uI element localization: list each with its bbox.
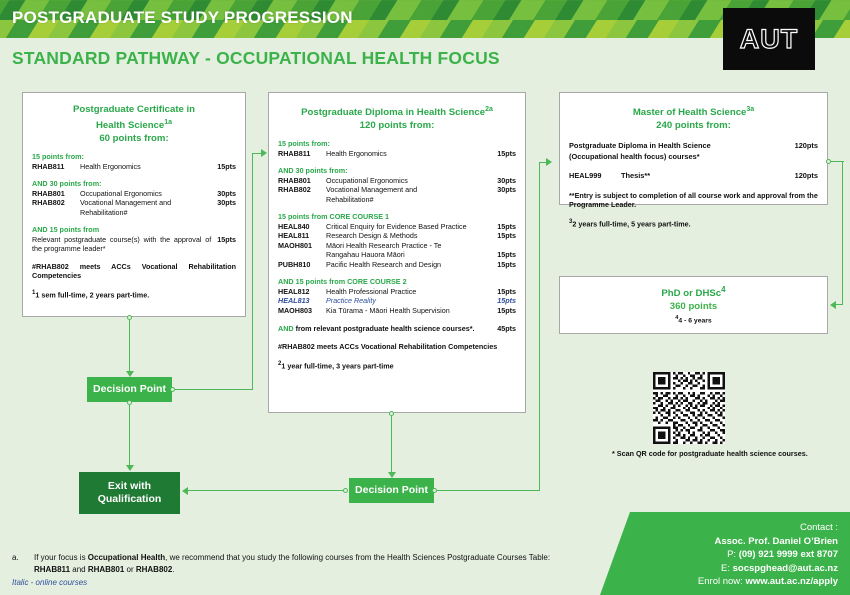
and-relevant-row: AND from relevant postgraduate health sc… (278, 324, 516, 334)
exit-line2: Qualification (98, 493, 162, 505)
footnote-line1-post: , we recommend that you study the follow… (165, 553, 550, 562)
diploma-title-sup: 2a (485, 106, 493, 113)
master-title-sup: 3a (746, 106, 754, 113)
connector-arrow-down (126, 465, 134, 471)
certificate-title-line1: Postgraduate Certificate in (73, 104, 195, 115)
and-relevant-text: AND from relevant postgraduate health sc… (278, 324, 497, 334)
connector-line (539, 162, 540, 491)
course-code (32, 208, 80, 218)
course-name: Occupational Ergonomics (80, 189, 217, 199)
connector-arrow-right (546, 158, 552, 166)
certificate-points: 60 points from: (99, 133, 168, 144)
connector-line (188, 490, 344, 491)
course-name: Health Professional Practice (326, 287, 497, 297)
connector-line (391, 416, 392, 474)
footnote-code2: RHAB801 (88, 565, 124, 574)
and-description: from relevant postgraduate health scienc… (294, 324, 475, 333)
connector-line (842, 161, 843, 305)
duration-text: 1 year full-time, 3 years part-time (281, 361, 393, 370)
certificate-title-line2: Health Science (96, 120, 164, 131)
contact-enrol-url: www.aut.ac.nz/apply (745, 576, 838, 587)
master-row-points: 120pts (795, 171, 818, 182)
decision-point-1[interactable]: Decision Point (87, 377, 172, 402)
footnote-line2: RHAB811 and RHAB801 or RHAB802. (34, 564, 612, 576)
section-heading: 15 points from CORE COURSE 1 (278, 212, 516, 221)
phd-title-text: PhD or DHSc (661, 288, 721, 299)
certificate-title-sup: 1a (164, 119, 172, 126)
course-name: Vocational Management and (326, 185, 497, 195)
contact-email[interactable]: E: socspghead@aut.ac.nz (600, 562, 838, 576)
contact-panel: Contact : Assoc. Prof. Daniel O’Brien P:… (600, 512, 850, 595)
exit-label: Exit withQualification (98, 480, 162, 506)
course-name: Health Ergonomics (326, 149, 497, 159)
footnote-italic-legend: Italic - online courses (12, 578, 87, 587)
card-master-of-health-science: Master of Health Science3a 240 points fr… (559, 92, 828, 205)
course-name: Kia Tūrama - Māori Health Supervision (326, 306, 497, 316)
course-points: 15pts (497, 306, 516, 316)
course-row-continuation: Rangahau Hauora Māori 15pts (278, 250, 516, 260)
qr-code-icon[interactable] (653, 372, 725, 444)
course-row: RHAB801 Occupational Ergonomics 30pts (32, 189, 236, 199)
section-heading: 15 points from: (278, 139, 516, 148)
course-code: RHAB801 (32, 189, 80, 199)
card-phd-or-dhsc: PhD or DHSc4 360 points 44 - 6 years (559, 276, 828, 334)
course-row: HEAL840 Critical Enquiry for Evidence Ba… (278, 222, 516, 232)
course-row: RHAB811 Health Ergonomics 15pts (278, 149, 516, 159)
course-row: MAOH803 Kia Tūrama - Māori Health Superv… (278, 306, 516, 316)
course-row: HEAL812 Health Professional Practice 15p… (278, 287, 516, 297)
exit-line1: Exit with (108, 480, 151, 492)
course-name: Critical Enquiry for Evidence Based Prac… (326, 222, 497, 232)
footnote-code3: RHAB802 (136, 565, 172, 574)
poster-root: POSTGRADUATE STUDY PROGRESSION STANDARD … (0, 0, 850, 595)
master-row-label: Postgraduate Diploma in Health Science (569, 141, 795, 152)
course-name: Health Ergonomics (80, 162, 217, 172)
contact-label: Contact : (600, 521, 838, 535)
contact-email-prefix: E: (721, 563, 733, 574)
connector-arrow-left (182, 487, 188, 495)
contact-email-value: socspghead@aut.ac.nz (733, 563, 838, 574)
course-row: RHAB802 Vocational Management and 30pts (32, 198, 236, 208)
course-name: Practice Reality (326, 296, 497, 306)
footnote-conj1: and (70, 565, 88, 574)
duration-note: 32 years full-time, 5 years part-time. (569, 218, 818, 229)
course-code: RHAB801 (278, 176, 326, 186)
contact-name: Assoc. Prof. Daniel O’Brien (600, 535, 838, 549)
course-row: PUBH810 Pacific Health Research and Desi… (278, 260, 516, 270)
contact-phone-value: (09) 921 9999 ext 8707 (739, 549, 838, 560)
course-points: 15pts (497, 149, 516, 159)
phd-title: PhD or DHSc4 (661, 285, 725, 299)
course-row: RHAB802 Vocational Management and 30pts (278, 185, 516, 195)
course-code: RHAB811 (32, 162, 80, 172)
section-heading: 15 points from: (32, 152, 236, 161)
section-heading: AND 15 points from CORE COURSE 2 (278, 277, 516, 286)
duration-text: 2 years full-time, 5 years part-time. (572, 219, 690, 228)
decision-point-2-label: Decision Point (355, 484, 428, 497)
course-code: HEAL840 (278, 222, 326, 232)
connector-line (129, 320, 130, 373)
course-code: MAOH803 (278, 306, 326, 316)
exit-with-qualification-box[interactable]: Exit withQualification (79, 472, 180, 514)
section-heading: AND 15 points from (32, 225, 236, 234)
course-name: Occupational Ergonomics (326, 176, 497, 186)
decision-point-2[interactable]: Decision Point (349, 478, 434, 503)
footnote-line1-pre: If your focus is (34, 553, 88, 562)
phd-points: 360 points (670, 301, 717, 312)
course-name: Māori Health Research Practice - Te (326, 241, 516, 251)
course-code: HEAL812 (278, 287, 326, 297)
course-code: PUBH810 (278, 260, 326, 270)
course-name: Rehabilitation# (80, 208, 236, 218)
course-code: HEAL813 (278, 296, 326, 306)
connector-line (437, 490, 540, 491)
course-code: RHAB802 (32, 198, 80, 208)
page-title: POSTGRADUATE STUDY PROGRESSION (12, 8, 353, 28)
course-code: RHAB811 (278, 149, 326, 159)
course-points: 30pts (497, 176, 516, 186)
master-row-label: Thesis** (621, 171, 795, 182)
section-heading: AND 30 points from: (278, 166, 516, 175)
course-row: Relevant postgraduate course(s) with the… (32, 235, 236, 254)
course-row: RHAB811 Health Ergonomics 15pts (32, 162, 236, 172)
contact-enrol-prefix: Enrol now: (698, 576, 746, 587)
course-name: Rehabilitation# (326, 195, 516, 205)
master-row: Postgraduate Diploma in Health Science 1… (569, 141, 818, 152)
contact-phone: P: (09) 921 9999 ext 8707 (600, 548, 838, 562)
phd-title-sup: 4 (721, 285, 725, 294)
connector-line (836, 304, 843, 305)
course-name: Pacific Health Research and Design (326, 260, 497, 270)
course-points: 15pts (497, 287, 516, 297)
master-course-code: HEAL999 (569, 171, 621, 182)
course-code: HEAL811 (278, 231, 326, 241)
connector-arrow-left (830, 301, 836, 309)
course-points: 30pts (217, 189, 236, 199)
section-heading: AND 30 points from: (32, 179, 236, 188)
qr-code-svg (653, 372, 725, 444)
duration-note: 11 sem full-time, 2 years part-time. (32, 289, 236, 300)
aut-logo: AUT (723, 8, 815, 70)
master-row-points: 120pts (795, 141, 818, 152)
card-postgraduate-certificate: Postgraduate Certificate in Health Scien… (22, 92, 246, 317)
course-points: 30pts (217, 198, 236, 208)
master-row-continuation: (Occupational health focus) courses* (569, 152, 818, 163)
footnote-code1: RHAB811 (34, 565, 70, 574)
connector-line (539, 162, 546, 163)
phd-years-text: 4 - 6 years (678, 318, 711, 325)
footnote-marker: a. (12, 552, 19, 564)
course-points: 15pts (217, 162, 236, 172)
course-points: 15pts (217, 235, 236, 254)
entry-note: **Entry is subject to completion of all … (569, 191, 818, 210)
card-postgraduate-diploma: Postgraduate Diploma in Health Science2a… (268, 92, 526, 413)
course-row: RHAB801 Occupational Ergonomics 30pts (278, 176, 516, 186)
contact-enrol[interactable]: Enrol now: www.aut.ac.nz/apply (600, 575, 838, 589)
course-code (278, 195, 326, 205)
course-row-online: HEAL813 Practice Reality 15pts (278, 296, 516, 306)
course-points: 15pts (497, 296, 516, 306)
and-relevant-points: 45pts (497, 324, 516, 334)
contact-phone-prefix: P: (727, 549, 739, 560)
course-name: Rangahau Hauora Māori (326, 250, 497, 260)
course-points: 15pts (497, 222, 516, 232)
qr-caption: * Scan QR code for postgraduate health s… (612, 449, 808, 458)
footnote-line1-bold: Occupational Health (88, 553, 165, 562)
course-row-continuation: Rehabilitation# (278, 195, 516, 205)
diploma-points: 120 points from: (360, 120, 435, 131)
duration-text: 1 sem full-time, 2 years part-time. (35, 290, 149, 299)
course-row: MAOH801 Māori Health Research Practice -… (278, 241, 516, 251)
master-row-label2: (Occupational health focus) courses* (569, 152, 818, 163)
course-row: HEAL811 Research Design & Methods 15pts (278, 231, 516, 241)
course-name: Relevant postgraduate course(s) with the… (32, 235, 217, 254)
phd-years: 44 - 6 years (675, 315, 711, 324)
course-name: Vocational Management and (80, 198, 217, 208)
footnote-a: a. If your focus is Occupational Health,… (12, 552, 612, 575)
course-code: RHAB802 (278, 185, 326, 195)
diploma-title-line1: Postgraduate Diploma in Health Science (301, 107, 485, 118)
course-name: Research Design & Methods (326, 231, 497, 241)
connector-arrow-right (261, 149, 267, 157)
course-points: 30pts (497, 185, 516, 195)
master-title-text: Master of Health Science (633, 107, 747, 118)
course-code: MAOH801 (278, 241, 326, 251)
course-row-continuation: Rehabilitation# (32, 208, 236, 218)
connector-line (129, 405, 130, 467)
footnote-conj2: or (124, 565, 136, 574)
decision-point-1-label: Decision Point (93, 383, 166, 396)
connector-line (252, 153, 253, 390)
and-keyword: AND (278, 324, 294, 333)
master-row: HEAL999 Thesis** 120pts (569, 171, 818, 182)
footnote-period: . (172, 565, 174, 574)
hash-note: #RHAB802 meets ACCs Vocational Rehabilit… (278, 342, 516, 352)
hash-note: #RHAB802 meets ACCs Vocational Rehabilit… (32, 262, 236, 281)
course-code (278, 250, 326, 260)
duration-note: 21 year full-time, 3 years part-time (278, 360, 516, 371)
footnote-line1: If your focus is Occupational Health, we… (34, 553, 550, 562)
master-title: Master of Health Science3a 240 points fr… (569, 103, 818, 132)
aut-logo-text: AUT (740, 24, 799, 55)
diploma-title: Postgraduate Diploma in Health Science2a… (278, 103, 516, 132)
pathway-subtitle: STANDARD PATHWAY - OCCUPATIONAL HEALTH F… (12, 48, 500, 69)
master-points: 240 points from: (656, 120, 731, 131)
course-points: 15pts (497, 250, 516, 260)
certificate-title: Postgraduate Certificate in Health Scien… (32, 103, 236, 145)
course-points: 15pts (497, 231, 516, 241)
connector-line (175, 389, 253, 390)
course-points: 15pts (497, 260, 516, 270)
